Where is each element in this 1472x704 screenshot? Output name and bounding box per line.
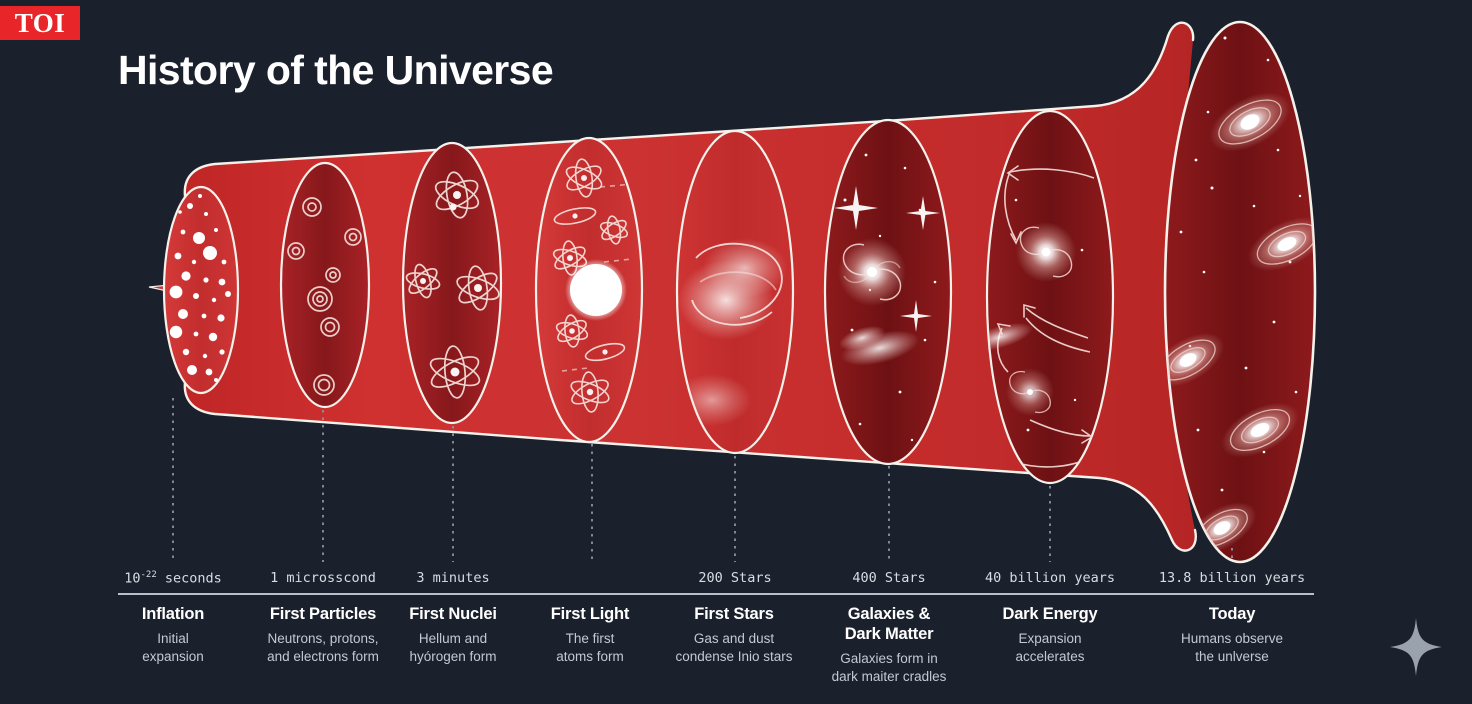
stage-column-galaxies-dark-matter: Galaxies & Dark Matter Galaxies form in … xyxy=(789,604,989,687)
stage-column-today: Today Humans observe the unlverse xyxy=(1144,604,1320,667)
time-label-2: 3 minutes xyxy=(416,570,489,586)
slice-inflation xyxy=(164,187,238,393)
timeline-divider xyxy=(118,593,1314,595)
slice-first-light xyxy=(536,138,642,442)
time-label-5: 400 Stars xyxy=(852,570,925,586)
slice-first-nuclei xyxy=(403,143,502,423)
time-label-7: 13.8 billion years xyxy=(1159,570,1305,586)
time-label-4: 200 Stars xyxy=(698,570,771,586)
stage-title: Galaxies & Dark Matter xyxy=(789,604,989,644)
stage-description: Humans observe the unlverse xyxy=(1144,630,1320,666)
four-point-star-icon xyxy=(1388,616,1444,678)
universe-expansion-cone xyxy=(0,0,1472,704)
infographic-canvas: TOI History of the Universe xyxy=(0,0,1472,704)
time-label-6: 40 billion years xyxy=(985,570,1115,586)
slice-galaxies-dark-matter xyxy=(825,120,951,464)
stage-description: Galaxies form in dark maiter cradles xyxy=(789,650,989,686)
stage-column-dark-energy: Dark Energy Expansion accelerates xyxy=(962,604,1138,667)
slice-first-particles xyxy=(281,163,369,407)
stage-title: Dark Energy xyxy=(962,604,1138,624)
stage-title: Today xyxy=(1144,604,1320,624)
stage-description: Expansion accelerates xyxy=(962,630,1138,666)
time-label-1: 1 microsscond xyxy=(270,570,376,586)
time-label-0: 10-22 seconds xyxy=(124,570,222,587)
